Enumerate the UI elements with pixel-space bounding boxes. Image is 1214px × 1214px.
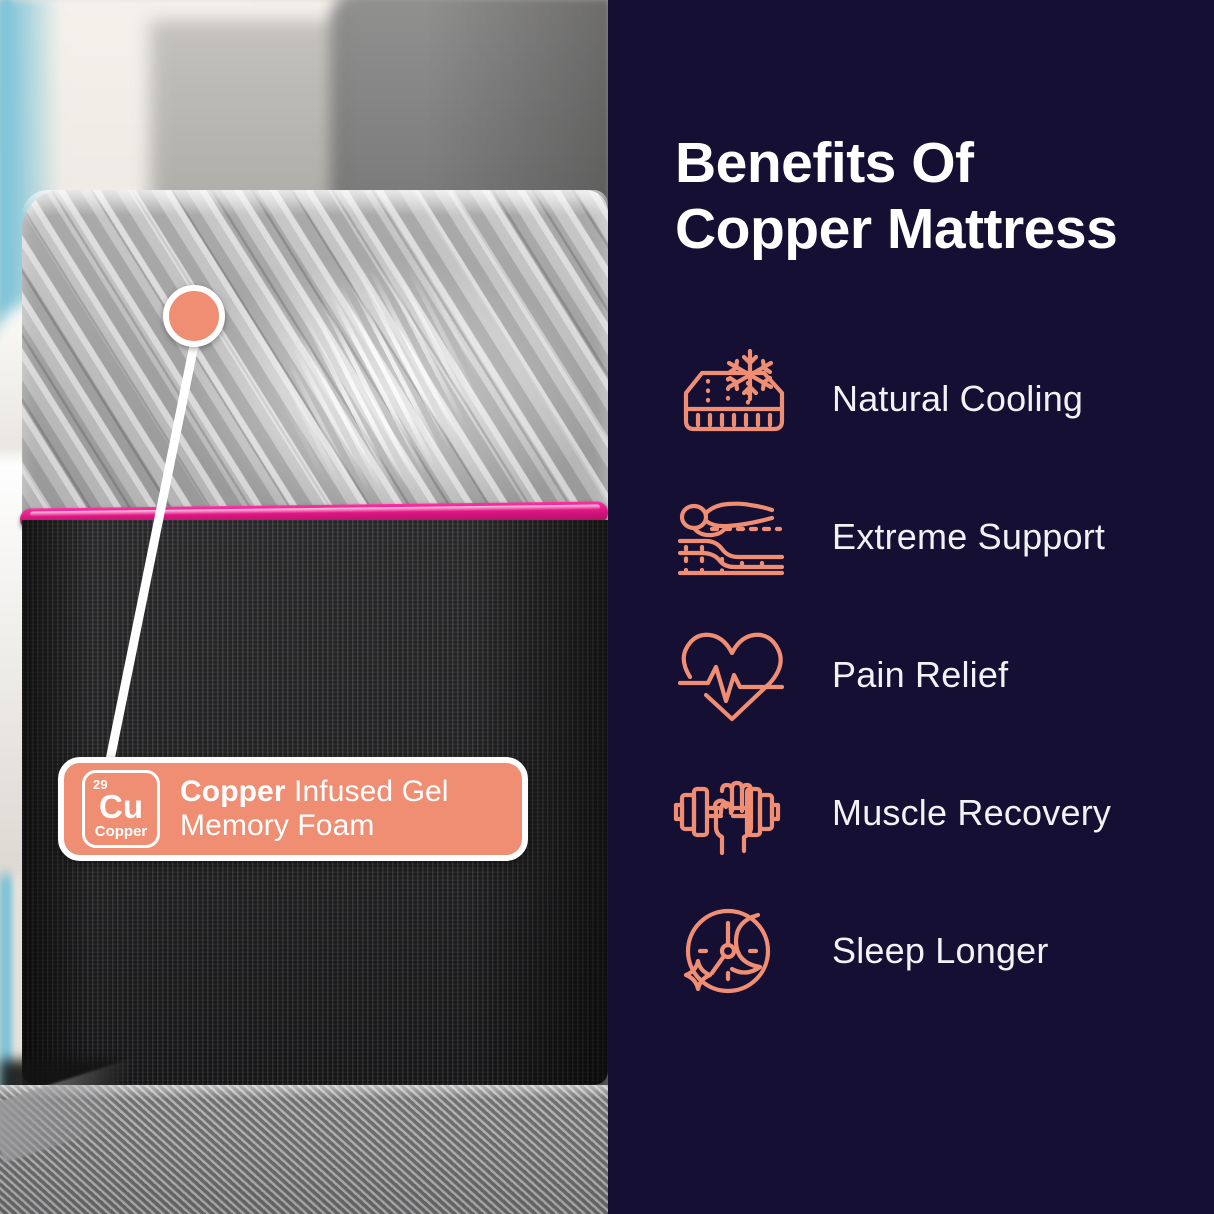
benefit-item-pain-relief[interactable]: Pain Relief (670, 606, 1210, 744)
hand-dumbbell-icon (670, 761, 798, 865)
benefit-label: Muscle Recovery (832, 792, 1111, 834)
benefit-item-natural-cooling[interactable]: Natural Cooling (670, 330, 1210, 468)
mattress-assembly (0, 0, 608, 1214)
person-lying-mattress-layers-icon (670, 485, 798, 589)
page-title-line2: Copper Mattress (675, 196, 1195, 262)
mattress-product-photo: 29 Cu Copper Copper Infused Gel Memory F… (0, 0, 608, 1214)
element-name: Copper (85, 823, 157, 840)
benefit-label: Extreme Support (832, 516, 1105, 558)
badge-caption: Copper Infused Gel Memory Foam (180, 775, 449, 842)
benefit-item-muscle-recovery[interactable]: Muscle Recovery (670, 744, 1210, 882)
badge-caption-rest: Infused Gel (286, 775, 449, 808)
benefit-item-extreme-support[interactable]: Extreme Support (670, 468, 1210, 606)
badge-caption-bold: Copper (180, 775, 286, 808)
copper-callout-badge[interactable]: 29 Cu Copper Copper Infused Gel Memory F… (58, 757, 528, 861)
benefit-item-sleep-longer[interactable]: Sleep Longer (670, 882, 1210, 1020)
benefits-list: Natural Cooling (670, 330, 1210, 1020)
page-title: Benefits Of Copper Mattress (675, 130, 1195, 262)
clock-moon-icon (670, 899, 798, 1003)
heart-heartbeat-icon (670, 623, 798, 727)
badge-caption-line2: Memory Foam (180, 809, 374, 842)
benefit-label: Natural Cooling (832, 378, 1083, 420)
benefit-label: Sleep Longer (832, 930, 1049, 972)
mattress-top-edge-highlight (22, 190, 608, 216)
quilt-highlight-band (246, 250, 513, 510)
copper-layer-marker[interactable] (163, 285, 225, 347)
infographic-canvas: 29 Cu Copper Copper Infused Gel Memory F… (0, 0, 1214, 1214)
page-title-line1: Benefits Of (675, 130, 1195, 196)
mattress-snowflake-icon (670, 347, 798, 451)
element-symbol: Cu (85, 790, 157, 823)
benefits-panel: Benefits Of Copper Mattress (608, 0, 1214, 1214)
copper-element-tile: 29 Cu Copper (82, 770, 160, 848)
benefit-label: Pain Relief (832, 654, 1008, 696)
